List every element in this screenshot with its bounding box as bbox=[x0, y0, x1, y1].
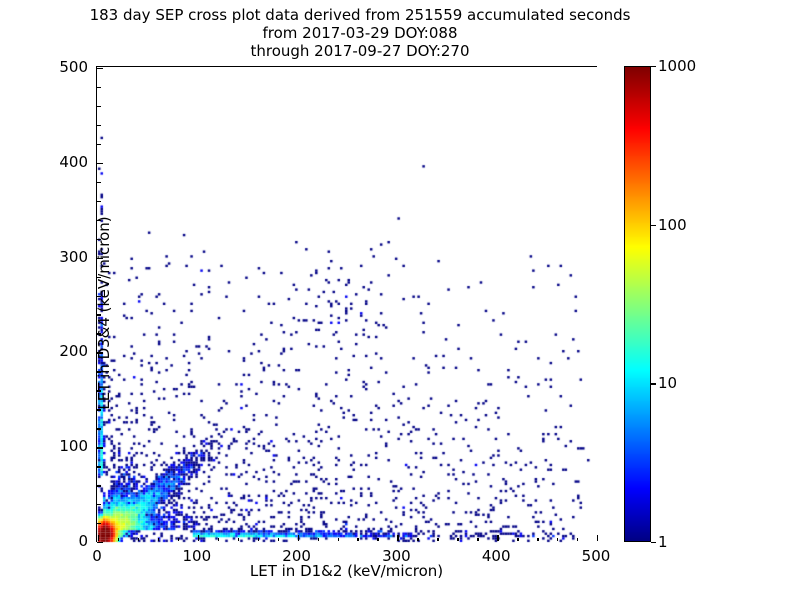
scatter-heatmap-canvas bbox=[97, 67, 598, 543]
colorbar-gradient bbox=[625, 67, 650, 541]
colorbar-tick-1 bbox=[651, 542, 656, 543]
x-minor-tick bbox=[258, 538, 259, 542]
colorbar-tick-label-100: 100 bbox=[658, 216, 687, 234]
x-minor-tick bbox=[517, 538, 518, 542]
y-tick-label-300: 300 bbox=[36, 248, 88, 266]
x-tick-100 bbox=[198, 535, 199, 541]
colorbar-tick-100 bbox=[651, 225, 656, 226]
colorbar-tick-label-10: 10 bbox=[658, 374, 677, 392]
x-tick-400 bbox=[497, 535, 498, 541]
x-tick-500 bbox=[597, 535, 598, 541]
x-minor-tick bbox=[437, 538, 438, 542]
x-minor-tick bbox=[417, 538, 418, 542]
title-line-1: 183 day SEP cross plot data derived from… bbox=[0, 6, 720, 24]
y-tick-label-400: 400 bbox=[36, 153, 88, 171]
colorbar[interactable] bbox=[624, 66, 651, 542]
y-axis-label: LET in D3&4 (keV/micron) bbox=[95, 75, 113, 551]
x-minor-tick bbox=[377, 538, 378, 542]
x-minor-tick bbox=[477, 538, 478, 542]
x-axis-label: LET in D1&2 (keV/micron) bbox=[96, 562, 597, 580]
figure-canvas: 183 day SEP cross plot data derived from… bbox=[0, 0, 800, 600]
y-tick-label-0: 0 bbox=[36, 532, 88, 550]
colorbar-tick-label-1: 1 bbox=[658, 533, 668, 551]
y-tick-label-100: 100 bbox=[36, 437, 88, 455]
x-minor-tick bbox=[537, 538, 538, 542]
y-tick-label-500: 500 bbox=[36, 58, 88, 76]
x-minor-tick bbox=[577, 538, 578, 542]
colorbar-tick-10 bbox=[651, 383, 656, 384]
x-minor-tick bbox=[178, 538, 179, 542]
y-tick-500 bbox=[97, 68, 103, 69]
x-minor-tick bbox=[238, 538, 239, 542]
plot-title: 183 day SEP cross plot data derived from… bbox=[0, 6, 720, 60]
colorbar-tick-1000 bbox=[651, 66, 656, 67]
title-line-3: through 2017-09-27 DOY:270 bbox=[0, 42, 720, 60]
x-minor-tick bbox=[338, 538, 339, 542]
plot-axes[interactable] bbox=[96, 66, 597, 542]
x-minor-tick bbox=[218, 538, 219, 542]
x-tick-200 bbox=[298, 535, 299, 541]
x-minor-tick bbox=[557, 538, 558, 542]
x-minor-tick bbox=[457, 538, 458, 542]
colorbar-tick-label-1000: 1000 bbox=[658, 57, 696, 75]
x-tick-300 bbox=[397, 535, 398, 541]
title-line-2: from 2017-03-29 DOY:088 bbox=[0, 24, 720, 42]
x-minor-tick bbox=[138, 538, 139, 542]
x-minor-tick bbox=[318, 538, 319, 542]
x-minor-tick bbox=[278, 538, 279, 542]
x-minor-tick bbox=[357, 538, 358, 542]
x-minor-tick bbox=[158, 538, 159, 542]
x-minor-tick bbox=[118, 538, 119, 542]
y-tick-label-200: 200 bbox=[36, 342, 88, 360]
